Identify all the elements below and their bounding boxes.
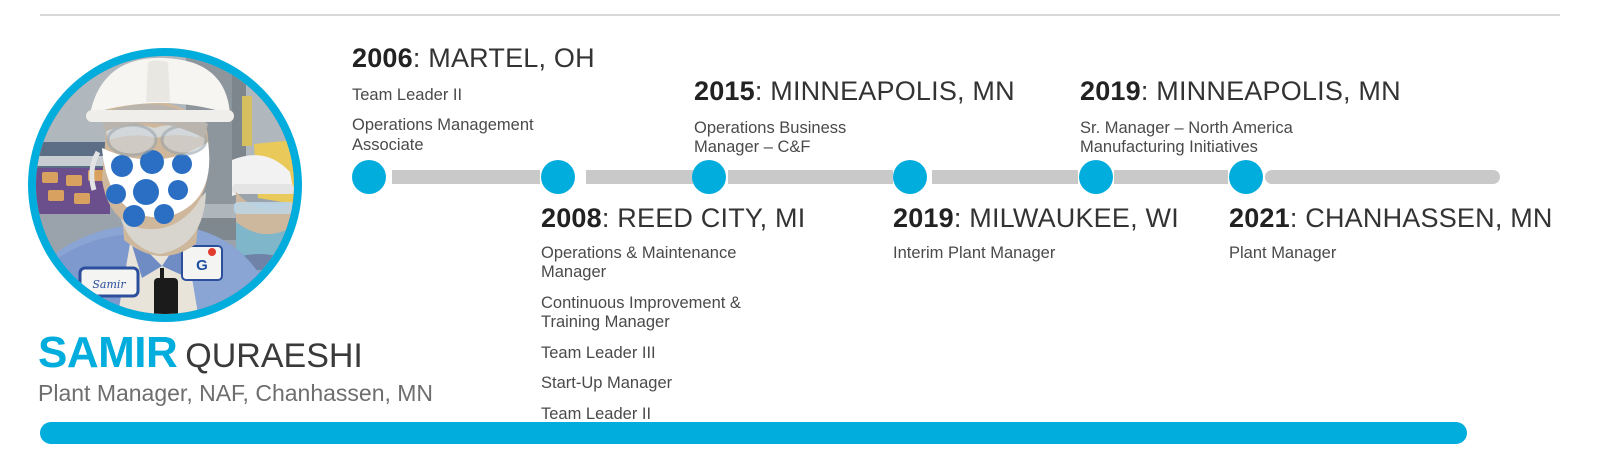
timeline-dot-2021[interactable] xyxy=(1229,160,1263,194)
timeline-entry-roles: Operations & Maintenance Manager Continu… xyxy=(541,244,805,424)
timeline-entry-roles: Operations Business Manager – C&F xyxy=(694,119,1015,158)
timeline-entry-headline: 2015: MINNEAPOLIS, MN xyxy=(694,77,1015,107)
timeline-entry-location: MILWAUKEE, WI xyxy=(969,203,1179,233)
timeline-entry-location: MINNEAPOLIS, MN xyxy=(770,76,1015,106)
timeline-dot-2006[interactable] xyxy=(352,160,386,194)
timeline-entry-separator: : xyxy=(602,203,617,233)
timeline-entry-year: 2021 xyxy=(1229,203,1290,233)
timeline-dot-2019-milwaukee[interactable] xyxy=(893,160,927,194)
timeline-entry-location: MINNEAPOLIS, MN xyxy=(1156,76,1401,106)
timeline-entry-2008[interactable]: 2008: REED CITY, MI Operations & Mainten… xyxy=(541,204,805,424)
timeline-entry-location: REED CITY, MI xyxy=(617,203,805,233)
timeline-entry-roles: Plant Manager xyxy=(1229,244,1553,263)
timeline-track-segment xyxy=(932,170,1078,184)
timeline-entry-separator: : xyxy=(755,76,770,106)
timeline-entry-separator: : xyxy=(1141,76,1156,106)
timeline-role: Plant Manager xyxy=(1229,244,1553,263)
timeline-entry-year: 2008 xyxy=(541,203,602,233)
timeline-entry-year: 2015 xyxy=(694,76,755,106)
timeline-track-segment xyxy=(1114,170,1228,184)
timeline-entry-2006[interactable]: 2006: MARTEL, OH Team Leader II Operatio… xyxy=(352,44,595,155)
timeline-entry-2015[interactable]: 2015: MINNEAPOLIS, MN Operations Busines… xyxy=(694,77,1015,158)
career-timeline: 2006: MARTEL, OH Team Leader II Operatio… xyxy=(0,0,1600,456)
timeline-role: Start-Up Manager xyxy=(541,374,805,393)
timeline-entry-2019-milwaukee[interactable]: 2019: MILWAUKEE, WI Interim Plant Manage… xyxy=(893,204,1179,263)
timeline-entry-roles: Team Leader II Operations Management Ass… xyxy=(352,86,595,155)
timeline-entry-2021[interactable]: 2021: CHANHASSEN, MN Plant Manager xyxy=(1229,204,1553,263)
timeline-entry-roles: Sr. Manager – North America Manufacturin… xyxy=(1080,119,1401,158)
timeline-track-end xyxy=(1265,170,1500,184)
timeline-entry-headline: 2019: MILWAUKEE, WI xyxy=(893,204,1179,234)
timeline-entry-2019-minneapolis[interactable]: 2019: MINNEAPOLIS, MN Sr. Manager – Nort… xyxy=(1080,77,1401,158)
timeline-role: Sr. Manager – North America Manufacturin… xyxy=(1080,119,1401,158)
timeline-entry-separator: : xyxy=(1290,203,1305,233)
timeline-entry-location: CHANHASSEN, MN xyxy=(1305,203,1552,233)
timeline-track-segment xyxy=(392,170,540,184)
timeline-entry-year: 2019 xyxy=(1080,76,1141,106)
timeline-role: Operations Business Manager – C&F xyxy=(694,119,1015,158)
timeline-entry-headline: 2019: MINNEAPOLIS, MN xyxy=(1080,77,1401,107)
timeline-track-segment xyxy=(586,170,693,184)
timeline-entry-separator: : xyxy=(954,203,969,233)
timeline-role: Interim Plant Manager xyxy=(893,244,1179,263)
timeline-entry-headline: 2008: REED CITY, MI xyxy=(541,204,805,234)
timeline-entry-headline: 2006: MARTEL, OH xyxy=(352,44,595,74)
timeline-entry-separator: : xyxy=(413,43,428,73)
timeline-track-segment xyxy=(728,170,893,184)
timeline-role: Team Leader II xyxy=(352,86,595,105)
timeline-entry-headline: 2021: CHANHASSEN, MN xyxy=(1229,204,1553,234)
timeline-dot-2015[interactable] xyxy=(692,160,726,194)
timeline-role: Team Leader III xyxy=(541,344,805,363)
timeline-dot-2019-minneapolis[interactable] xyxy=(1079,160,1113,194)
timeline-role: Continuous Improvement & Training Manage… xyxy=(541,294,805,333)
timeline-entry-roles: Interim Plant Manager xyxy=(893,244,1179,263)
timeline-entry-year: 2019 xyxy=(893,203,954,233)
timeline-entry-location: MARTEL, OH xyxy=(428,43,595,73)
timeline-dot-2008[interactable] xyxy=(541,160,575,194)
timeline-role: Operations Management Associate xyxy=(352,116,595,155)
bottom-accent-bar xyxy=(40,422,1467,444)
timeline-entry-year: 2006 xyxy=(352,43,413,73)
timeline-role: Operations & Maintenance Manager xyxy=(541,244,805,283)
